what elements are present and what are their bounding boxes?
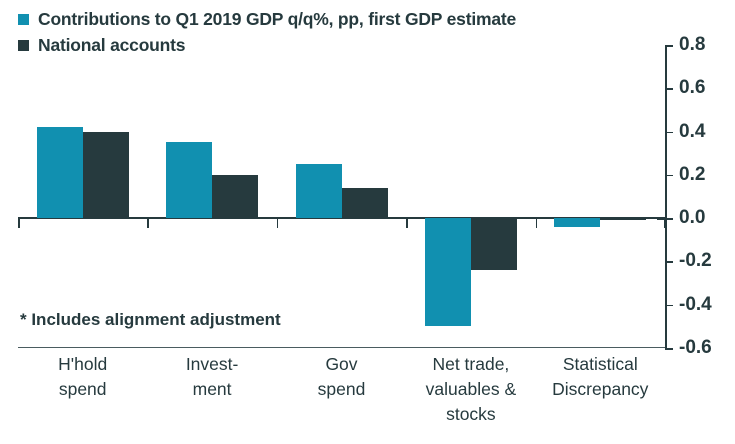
chart-plot-area [18, 45, 665, 348]
y-axis-tick [665, 132, 673, 134]
category-label-line: spend [13, 377, 152, 402]
bar-group [296, 45, 388, 348]
y-axis-tick [657, 218, 673, 220]
y-axis-tick-label: 0.8 [679, 34, 705, 56]
y-axis-tick-label: -0.6 [679, 337, 712, 359]
bar[interactable] [471, 218, 517, 270]
bar[interactable] [425, 218, 471, 326]
bar[interactable] [37, 127, 83, 218]
bar-group [425, 45, 517, 348]
category-label-line: spend [272, 377, 411, 402]
bar[interactable] [212, 175, 258, 218]
y-axis-tick [665, 261, 673, 263]
bar[interactable] [296, 164, 342, 218]
x-axis-category-label: Invest-ment [142, 352, 281, 402]
y-axis-tick [665, 348, 673, 350]
y-axis: 0.80.60.40.20.0-0.2-0.4-0.6 [665, 45, 735, 348]
x-axis-category-label: Net trade,valuables &stocks [401, 352, 540, 427]
category-label-line: stocks [401, 402, 540, 427]
category-label-line: Discrepancy [531, 377, 670, 402]
y-axis-tick [665, 88, 673, 90]
y-axis-tick-label: 0.6 [679, 77, 705, 99]
x-axis-tick [536, 219, 538, 228]
legend-item-label: Contributions to Q1 2019 GDP q/q%, pp, f… [38, 9, 516, 30]
bar[interactable] [554, 218, 600, 227]
category-label-line: Gov [272, 352, 411, 377]
x-axis-tick [18, 219, 20, 228]
category-label-line: H'hold [13, 352, 152, 377]
legend-item-series-1: Contributions to Q1 2019 GDP q/q%, pp, f… [18, 6, 658, 32]
x-axis-tick [147, 219, 149, 228]
y-axis-tick [665, 45, 673, 47]
square-marker-icon [18, 14, 29, 25]
x-axis-category-labels: H'holdspendInvest-mentGovspendNet trade,… [18, 352, 665, 442]
x-axis-category-label: StatisticalDiscrepancy [531, 352, 670, 402]
bar[interactable] [342, 188, 388, 218]
y-axis-tick-label: 0.0 [679, 207, 705, 229]
bar-group [37, 45, 129, 348]
y-axis-tick-label: -0.4 [679, 294, 712, 316]
category-label-line: Invest- [142, 352, 281, 377]
bar-group [166, 45, 258, 348]
category-label-line: Net trade, [401, 352, 540, 377]
y-axis-tick [665, 305, 673, 307]
x-axis-category-label: Govspend [272, 352, 411, 402]
bar[interactable] [600, 218, 646, 220]
y-axis-tick-label: -0.2 [679, 250, 712, 272]
y-axis-tick-label: 0.2 [679, 164, 705, 186]
y-axis-tick [665, 175, 673, 177]
category-label-line: ment [142, 377, 281, 402]
bar[interactable] [83, 132, 129, 219]
category-label-line: valuables & [401, 377, 540, 402]
bar-group [554, 45, 646, 348]
y-axis-tick-label: 0.4 [679, 121, 705, 143]
x-axis-tick [406, 219, 408, 228]
y-axis-line [665, 45, 667, 348]
x-axis-category-label: H'holdspend [13, 352, 152, 402]
bar[interactable] [166, 142, 212, 218]
chart-footnote: * Includes alignment adjustment [20, 310, 281, 330]
category-label-line: Statistical [531, 352, 670, 377]
x-axis-tick [277, 219, 279, 228]
